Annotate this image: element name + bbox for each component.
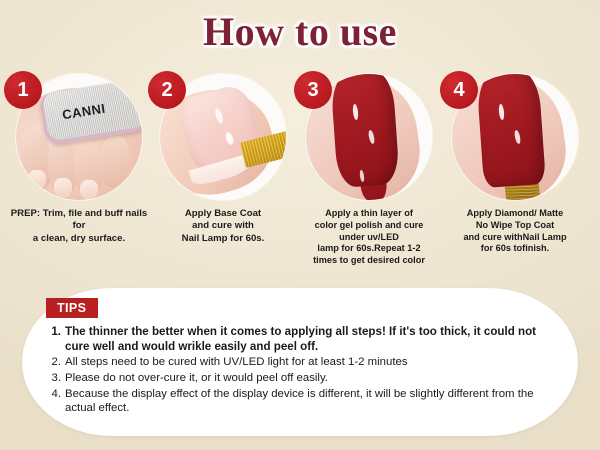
step-4: 4 Apply Diamond/ MatteNo Wipe Top Coatan…	[440, 68, 590, 255]
step-1-number-badge: 1	[4, 71, 42, 109]
red-gel-nail	[330, 74, 400, 188]
tip-number: 2.	[48, 355, 65, 370]
tip-text: Please do not over-cure it, or it would …	[65, 371, 558, 386]
tip-text: The thinner the better when it comes to …	[65, 324, 558, 354]
step-3-photo-wrap: 3	[306, 74, 432, 200]
how-to-use-infographic: How to use CANNI 1 PREP: Trim,	[0, 0, 600, 450]
step-4-number-badge: 4	[440, 71, 478, 109]
tips-badge: TIPS	[46, 298, 98, 318]
page-title: How to use	[0, 8, 600, 55]
step-4-photo-wrap: 4	[452, 74, 578, 200]
step-3-number-badge: 3	[294, 71, 332, 109]
tip-text: Because the display effect of the displa…	[65, 387, 558, 416]
step-4-caption: Apply Diamond/ MatteNo Wipe Top Coatand …	[440, 208, 590, 255]
step-2-number-badge: 2	[148, 71, 186, 109]
tips-list: 1. The thinner the better when it comes …	[48, 324, 558, 417]
tips-list-item: 4. Because the display effect of the dis…	[48, 387, 558, 416]
tip-number: 3.	[48, 371, 65, 386]
step-2-caption: Apply Base Coatand cure withNail Lamp fo…	[148, 208, 298, 245]
steps-row: CANNI 1 PREP: Trim, file and buff nails …	[0, 68, 600, 268]
fingernail-shape	[28, 170, 46, 190]
tips-list-item: 3. Please do not over-cure it, or it wou…	[48, 371, 558, 386]
tips-list-item: 2. All steps need to be cured with UV/LE…	[48, 355, 558, 370]
tip-number: 4.	[48, 387, 65, 402]
tips-list-item: 1. The thinner the better when it comes …	[48, 324, 558, 354]
step-1-caption: PREP: Trim, file and buff nails fora cle…	[4, 208, 154, 245]
tip-number: 1.	[48, 324, 65, 339]
red-gel-nail	[476, 74, 546, 188]
step-1-photo-wrap: CANNI 1	[16, 74, 142, 200]
step-3-caption: Apply a thin layer ofcolor gel polish an…	[294, 208, 444, 267]
step-1: CANNI 1 PREP: Trim, file and buff nails …	[4, 68, 154, 245]
fingernail-shape	[80, 180, 98, 200]
step-3: 3 Apply a thin layer ofcolor gel polish …	[294, 68, 444, 267]
step-2-photo-wrap: 2	[160, 74, 286, 200]
step-2: 2 Apply Base Coatand cure withNail Lamp …	[148, 68, 298, 245]
tip-text: All steps need to be cured with UV/LED l…	[65, 355, 558, 370]
fingernail-shape	[54, 178, 72, 198]
